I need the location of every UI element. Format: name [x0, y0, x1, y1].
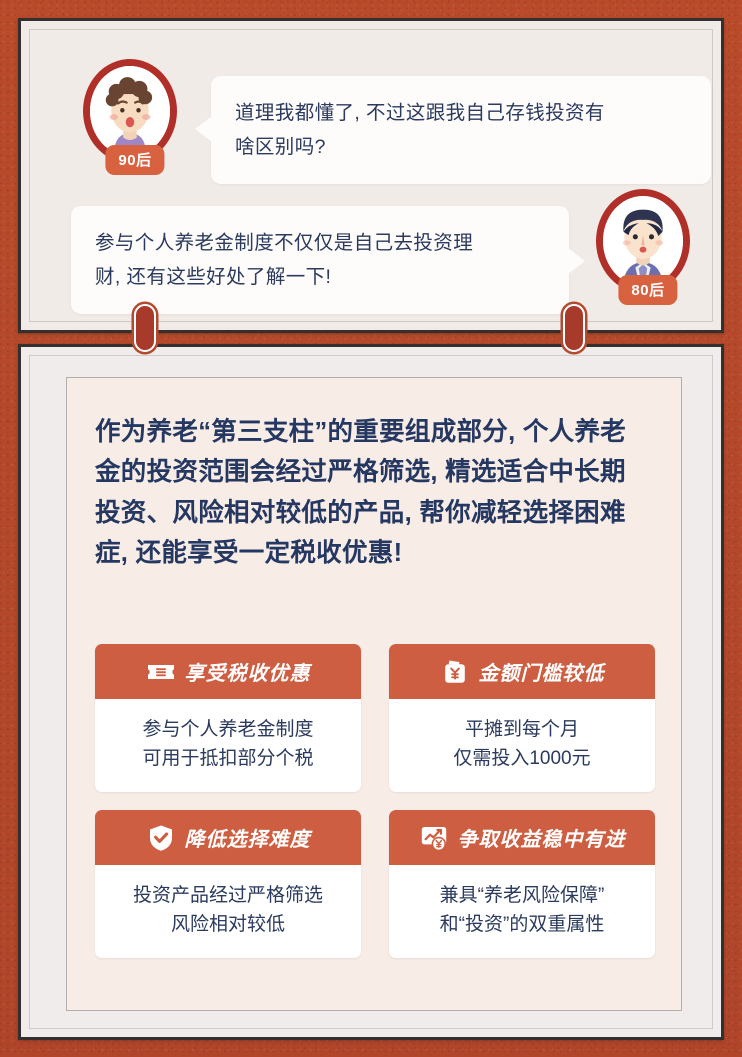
bubble-tail-icon: [195, 116, 212, 142]
bubble-line: 啥区别吗?: [235, 130, 687, 164]
intro-line: 症, 还能享受一定税收优惠!: [95, 533, 653, 573]
speaker-badge-90hou: 90后: [105, 145, 164, 175]
avatar-80hou: 80后: [596, 189, 700, 293]
intro-paragraph: 作为养老“第三支柱”的重要组成部分, 个人养老 金的投资范围会经过严格筛选, 精…: [67, 378, 681, 579]
benefit-cards-grid: 享受税收优惠 参与个人养老金制度 可用于抵扣部分个税: [95, 644, 655, 958]
bubble-line: 道理我都懂了, 不过这跟我自己存钱投资有: [235, 96, 687, 130]
infographic-page: 道理我都懂了, 不过这跟我自己存钱投资有 啥区别吗? 参与个人养老金制度不仅仅是…: [0, 0, 742, 1057]
benefit-card-stable-returns[interactable]: 争取收益稳中有进 兼具“养老风险保障” 和“投资”的双重属性: [389, 810, 655, 958]
card-body: 投资产品经过严格筛选 风险相对较低: [95, 865, 361, 958]
card-body-line: 兼具“养老风险保障”: [395, 882, 649, 911]
benefit-card-low-threshold[interactable]: 金额门槛较低 平摊到每个月 仅需投入1000元: [389, 644, 655, 792]
card-header: 降低选择难度: [95, 810, 361, 865]
bubble-tail-icon: [568, 248, 585, 274]
card-title: 金额门槛较低: [479, 657, 605, 686]
card-body-line: 仅需投入1000元: [395, 745, 649, 774]
speech-bubble-80hou: 参与个人养老金制度不仅仅是自己去投资理 财, 还有这些好处了解一下!: [71, 206, 569, 314]
bubble-line: 财, 还有这些好处了解一下!: [95, 260, 545, 294]
card-title: 降低选择难度: [185, 823, 311, 852]
money-bag-yuan-icon: [440, 657, 470, 687]
speech-bubble-90hou: 道理我都懂了, 不过这跟我自己存钱投资有 啥区别吗?: [211, 76, 711, 184]
benefit-card-lower-difficulty[interactable]: 降低选择难度 投资产品经过严格筛选 风险相对较低: [95, 810, 361, 958]
card-body: 参与个人养老金制度 可用于抵扣部分个税: [95, 699, 361, 792]
ticket-icon: [146, 657, 176, 687]
card-body-line: 参与个人养老金制度: [101, 716, 355, 745]
card-title: 享受税收优惠: [185, 657, 311, 686]
intro-line: 作为养老“第三支柱”的重要组成部分, 个人养老: [95, 412, 653, 452]
card-title: 争取收益稳中有进: [458, 823, 626, 852]
card-body-line: 和“投资”的双重属性: [395, 911, 649, 940]
chart-yuan-icon: [419, 823, 449, 853]
card-body: 兼具“养老风险保障” 和“投资”的双重属性: [389, 865, 655, 958]
card-body: 平摊到每个月 仅需投入1000元: [389, 699, 655, 792]
avatar-90hou: 90后: [83, 59, 187, 163]
shield-check-icon: [146, 823, 176, 853]
bubble-line: 参与个人养老金制度不仅仅是自己去投资理: [95, 226, 545, 260]
card-body-line: 投资产品经过严格筛选: [101, 882, 355, 911]
card-header: 享受税收优惠: [95, 644, 361, 699]
intro-line: 金的投资范围会经过严格筛选, 精选适合中长期: [95, 452, 653, 492]
card-body-line: 可用于抵扣部分个税: [101, 745, 355, 774]
card-header: 争取收益稳中有进: [389, 810, 655, 865]
man-navy-hair-avatar: [603, 196, 683, 285]
info-inner-card: 作为养老“第三支柱”的重要组成部分, 个人养老 金的投资范围会经过严格筛选, 精…: [66, 377, 682, 1011]
benefit-card-tax-discount[interactable]: 享受税收优惠 参与个人养老金制度 可用于抵扣部分个税: [95, 644, 361, 792]
info-panel: 作为养老“第三支柱”的重要组成部分, 个人养老 金的投资范围会经过严格筛选, 精…: [18, 344, 724, 1040]
connector-pill-left-icon: [134, 304, 156, 352]
connector-pill-right-icon: [563, 304, 585, 352]
chat-panel: 道理我都懂了, 不过这跟我自己存钱投资有 啥区别吗? 参与个人养老金制度不仅仅是…: [18, 18, 724, 333]
woman-curly-hair-confused-avatar: [90, 66, 170, 155]
card-body-line: 平摊到每个月: [395, 716, 649, 745]
speaker-badge-80hou: 80后: [618, 275, 677, 305]
card-header: 金额门槛较低: [389, 644, 655, 699]
card-body-line: 风险相对较低: [101, 911, 355, 940]
intro-line: 投资、风险相对较低的产品, 帮你减轻选择困难: [95, 493, 653, 533]
